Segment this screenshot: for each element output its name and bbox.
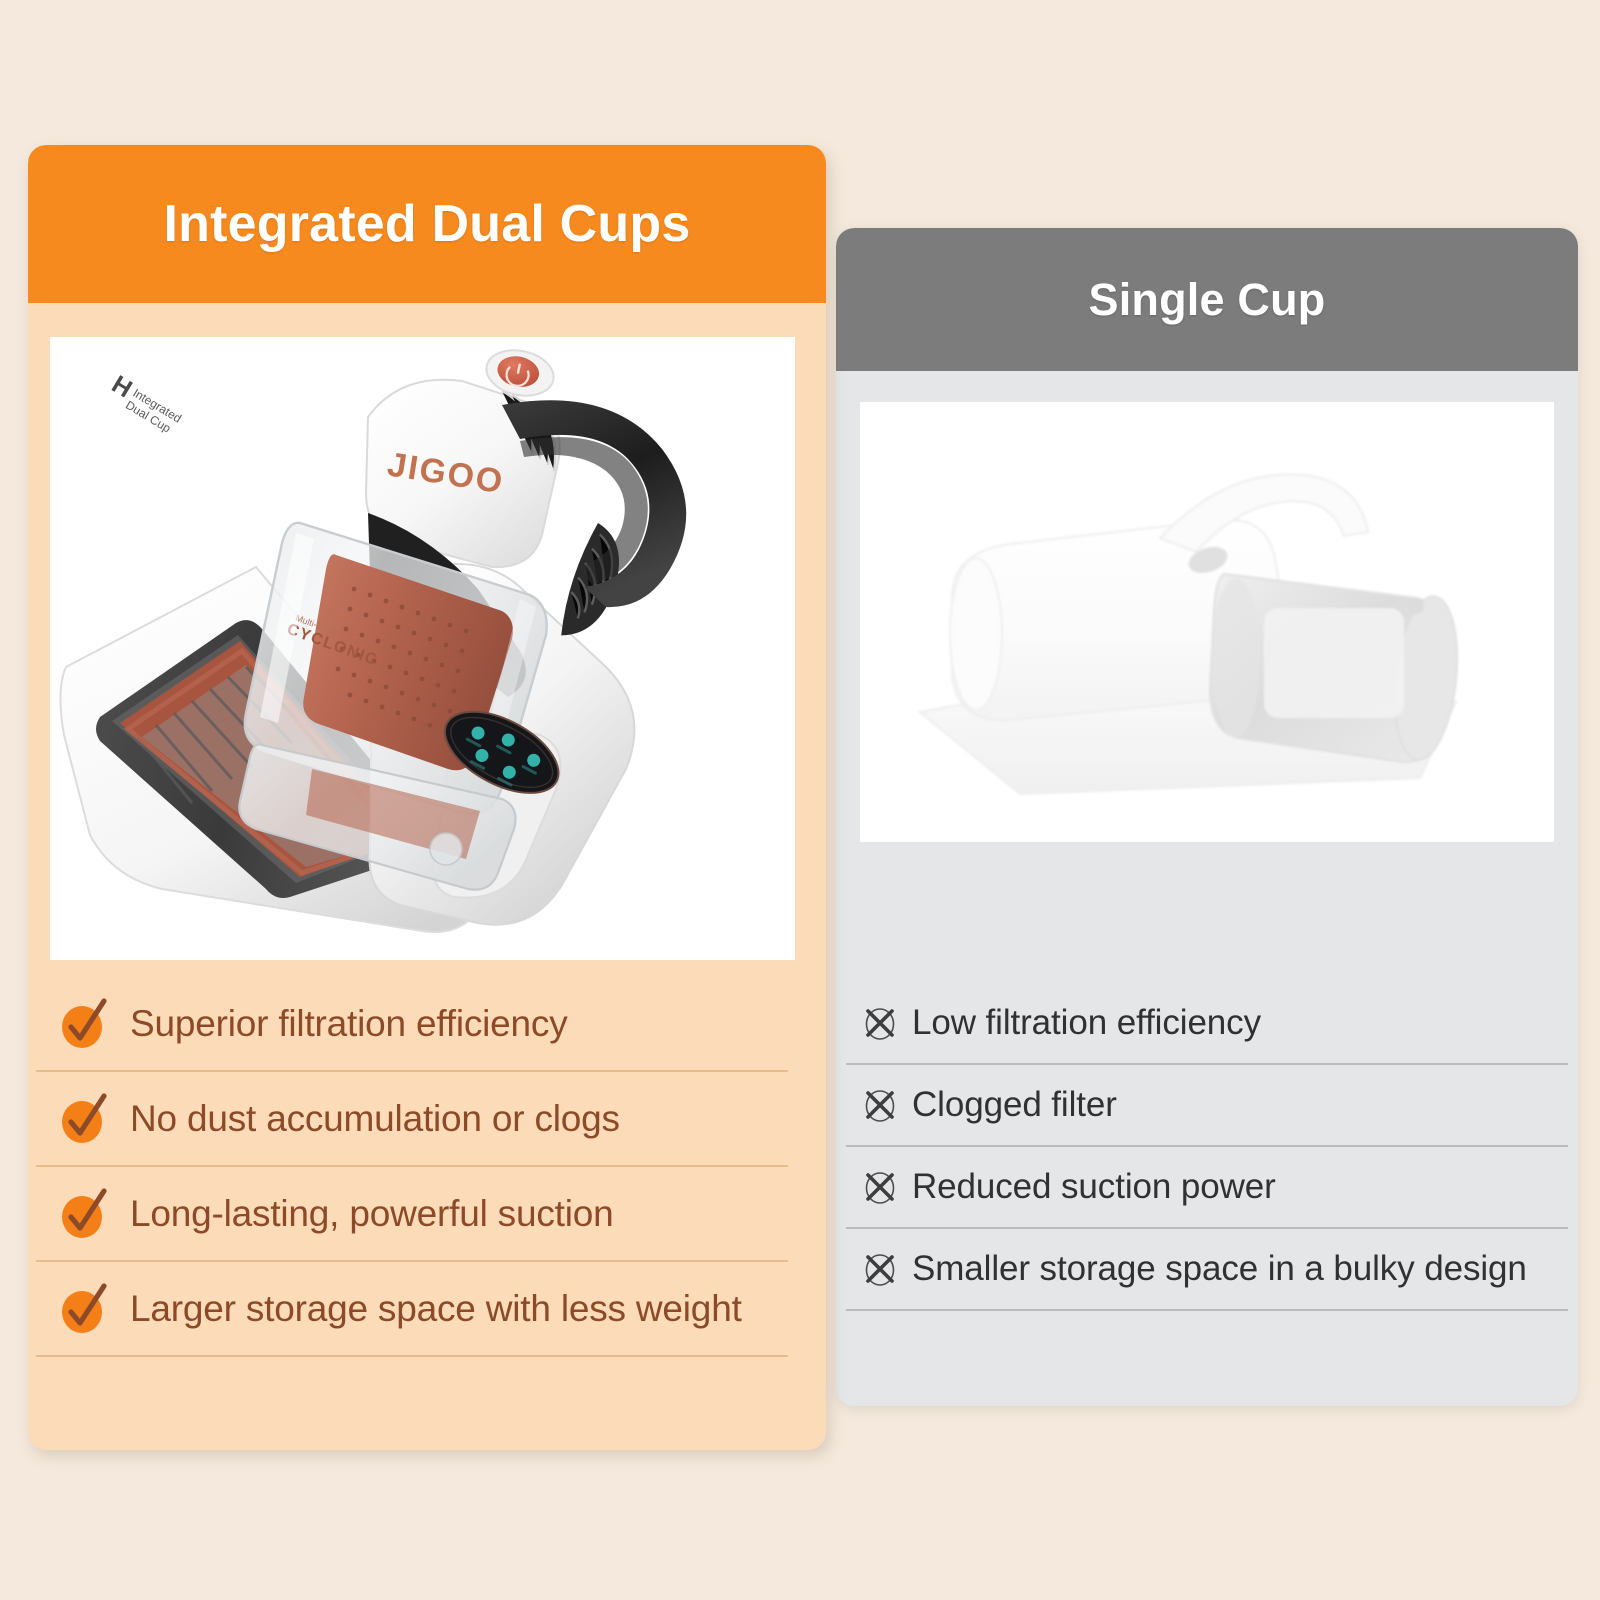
list-item-label: Clogged filter (912, 1085, 1117, 1125)
list-item-label: Larger storage space with less weight (130, 1288, 742, 1330)
list-item-label: Reduced suction power (912, 1167, 1276, 1207)
list-item: Superior filtration efficiency (36, 977, 788, 1072)
single-cup-product-photo (860, 402, 1554, 842)
check-circle-icon (58, 1093, 110, 1145)
single-cup-vacuum-illustration (860, 402, 1554, 842)
check-circle-icon (58, 1283, 110, 1335)
x-circle-icon (860, 1249, 900, 1289)
single-cup-drawback-list: Low filtration efficiency Clogged filter… (846, 983, 1568, 1311)
list-item: Smaller storage space in a bulky design (846, 1229, 1568, 1311)
x-circle-icon (860, 1085, 900, 1125)
integrated-dual-cups-panel: Integrated Dual Cups (28, 145, 826, 1450)
check-circle-icon (58, 998, 110, 1050)
x-circle-icon (860, 1167, 900, 1207)
single-cup-header: Single Cup (836, 228, 1578, 371)
single-cup-title: Single Cup (1089, 274, 1326, 326)
list-item: No dust accumulation or clogs (36, 1072, 788, 1167)
list-item-label: Smaller storage space in a bulky design (912, 1249, 1527, 1289)
list-item-label: Low filtration efficiency (912, 1003, 1261, 1043)
head-label: H Integrated Dual Cup (104, 370, 186, 437)
dual-cup-vacuum-illustration: H Integrated Dual Cup (50, 337, 795, 960)
list-item-label: Long-lasting, powerful suction (130, 1193, 614, 1235)
list-item: Long-lasting, powerful suction (36, 1167, 788, 1262)
integrated-dual-cups-header: Integrated Dual Cups (28, 145, 826, 303)
check-circle-icon (58, 1188, 110, 1240)
x-circle-icon (860, 1003, 900, 1043)
list-item-label: Superior filtration efficiency (130, 1003, 568, 1045)
dual-cups-feature-list: Superior filtration efficiency No dust a… (36, 977, 788, 1357)
list-item: Low filtration efficiency (846, 983, 1568, 1065)
integrated-dual-cups-title: Integrated Dual Cups (164, 194, 691, 254)
list-item: Reduced suction power (846, 1147, 1568, 1229)
dual-cup-product-photo: H Integrated Dual Cup (50, 337, 795, 960)
list-item: Clogged filter (846, 1065, 1568, 1147)
single-cup-panel: Single Cup (836, 228, 1578, 1406)
list-item-label: No dust accumulation or clogs (130, 1098, 620, 1140)
list-item: Larger storage space with less weight (36, 1262, 788, 1357)
